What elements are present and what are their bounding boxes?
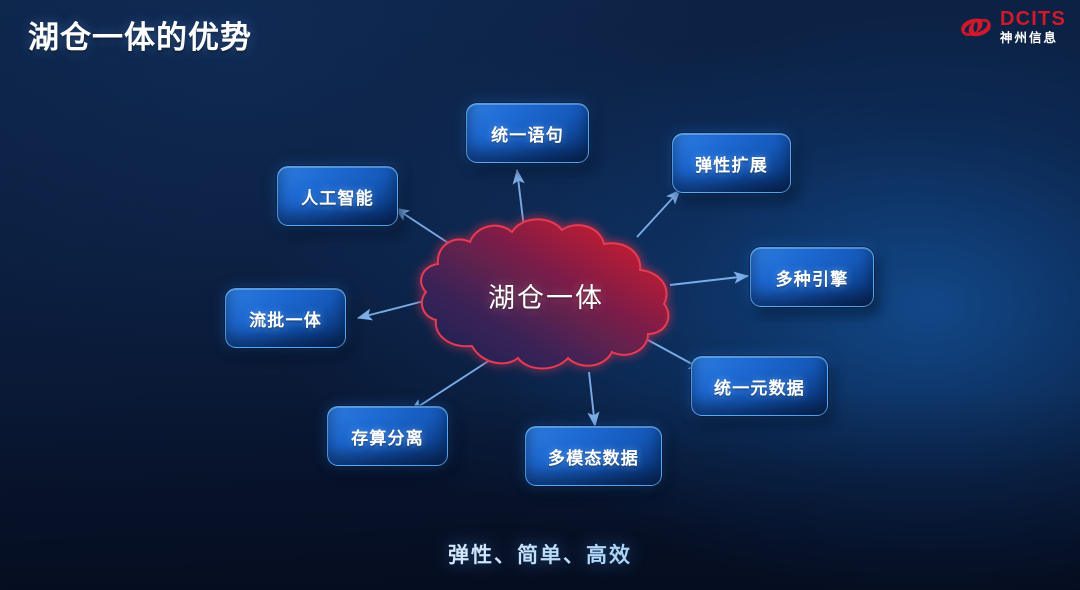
node-multiple-engines-label: 多种引擎 (776, 265, 849, 290)
center-cloud: 湖仓一体 (410, 218, 682, 373)
node-elastic-scaling-label: 弹性扩展 (695, 151, 768, 176)
node-stream-batch-unified-label: 流批一体 (249, 306, 322, 331)
cloud-shape (410, 218, 682, 373)
node-stream-batch-unified[interactable]: 流批一体 (225, 288, 346, 348)
node-elastic-scaling[interactable]: 弹性扩展 (672, 133, 791, 193)
lakehouse-diagram: 湖仓一体 统一语句 弹性扩展 多种引擎 统一元数据 多模态数据 存算分离 流批一… (0, 0, 1080, 590)
arrow-to-multimodal-data (589, 372, 595, 426)
node-artificial-intelligence-label: 人工智能 (301, 184, 374, 209)
node-unified-syntax[interactable]: 统一语句 (466, 103, 589, 163)
node-storage-compute-separation[interactable]: 存算分离 (327, 406, 448, 466)
node-multimodal-data[interactable]: 多模态数据 (525, 426, 662, 486)
footer-caption: 弹性、简单、高效 (0, 539, 1080, 569)
node-unified-metadata-label: 统一元数据 (714, 374, 805, 399)
node-unified-metadata[interactable]: 统一元数据 (691, 356, 828, 416)
node-multimodal-data-label: 多模态数据 (548, 444, 639, 469)
node-multiple-engines[interactable]: 多种引擎 (750, 247, 874, 307)
node-storage-compute-separation-label: 存算分离 (351, 424, 424, 449)
node-artificial-intelligence[interactable]: 人工智能 (277, 166, 398, 226)
slide-canvas: 湖仓一体的优势 DCITS 神州信息 (0, 0, 1080, 590)
node-unified-syntax-label: 统一语句 (491, 121, 564, 146)
